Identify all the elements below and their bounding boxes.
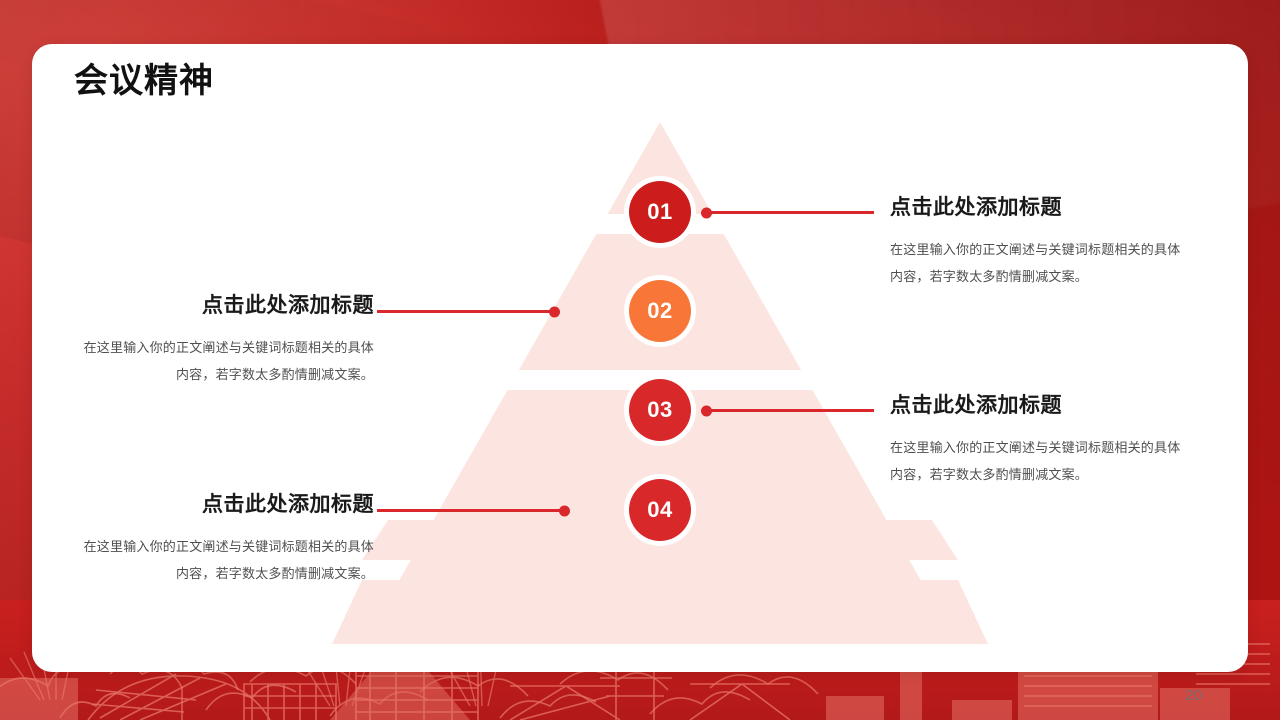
page-number: 20 [1185, 687, 1202, 704]
text-block-01-heading: 点击此处添加标题 [890, 194, 1190, 221]
pyramid-badge-02[interactable]: 02 [629, 280, 691, 342]
connector-line-02 [377, 310, 557, 313]
text-block-04-body: 在这里输入你的正文阐述与关键词标题相关的具体内容，若字数太多酌情删减文案。 [74, 534, 374, 587]
text-block-02: 点击此处添加标题 在这里输入你的正文阐述与关键词标题相关的具体内容，若字数太多酌… [74, 292, 374, 389]
text-block-02-heading: 点击此处添加标题 [74, 292, 374, 319]
pyramid-band-4b [332, 580, 988, 644]
connector-dot-01 [701, 207, 712, 218]
badge-label: 04 [647, 497, 672, 523]
text-block-04-heading: 点击此处添加标题 [74, 491, 374, 518]
content-card: 会议精神 [32, 44, 1248, 672]
badge-label: 02 [647, 298, 672, 324]
connector-dot-04 [559, 505, 570, 516]
badge-label: 03 [647, 397, 672, 423]
pyramid-badge-04[interactable]: 04 [629, 479, 691, 541]
connector-line-04 [377, 509, 567, 512]
text-block-01-body: 在这里输入你的正文阐述与关键词标题相关的具体内容，若字数太多酌情删减文案。 [890, 237, 1190, 290]
connector-dot-03 [701, 405, 712, 416]
text-block-02-body: 在这里输入你的正文阐述与关键词标题相关的具体内容，若字数太多酌情删减文案。 [74, 335, 374, 388]
text-block-04: 点击此处添加标题 在这里输入你的正文阐述与关键词标题相关的具体内容，若字数太多酌… [74, 491, 374, 588]
text-block-03-body: 在这里输入你的正文阐述与关键词标题相关的具体内容，若字数太多酌情删减文案。 [890, 435, 1190, 488]
pyramid-badge-01[interactable]: 01 [629, 181, 691, 243]
slide-canvas: 会议精神 [0, 0, 1280, 720]
text-block-03-heading: 点击此处添加标题 [890, 392, 1190, 419]
badge-label: 01 [647, 199, 672, 225]
connector-line-01 [704, 211, 874, 214]
connector-dot-02 [549, 306, 560, 317]
text-block-01: 点击此处添加标题 在这里输入你的正文阐述与关键词标题相关的具体内容，若字数太多酌… [890, 194, 1190, 291]
pyramid-badge-03[interactable]: 03 [629, 379, 691, 441]
text-block-03: 点击此处添加标题 在这里输入你的正文阐述与关键词标题相关的具体内容，若字数太多酌… [890, 392, 1190, 489]
connector-line-03 [704, 409, 874, 412]
